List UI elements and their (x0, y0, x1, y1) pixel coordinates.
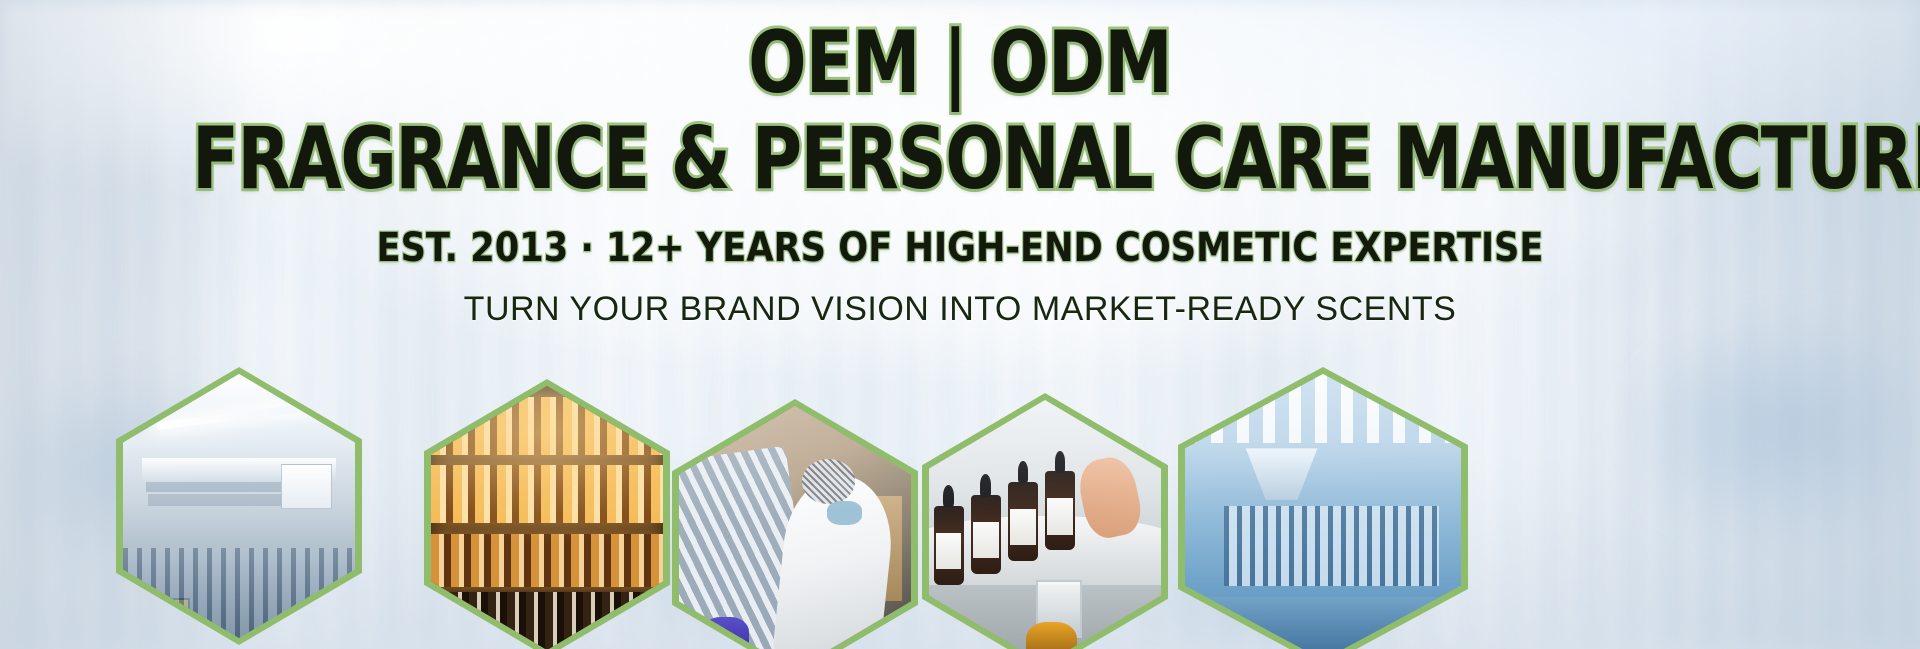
hexagon-photo-clip (123, 374, 355, 638)
control-panel-detail (281, 464, 332, 509)
hexagon-tile-ppe-operator-production-line[interactable] (672, 399, 918, 649)
hopper-tank-detail (1246, 448, 1318, 499)
photo-amber-bottle-shelves (431, 386, 663, 649)
photo-ppe-operator-production-line (679, 406, 911, 649)
filling-rig-detail (1224, 506, 1439, 586)
hexagon-photo-clip (929, 400, 1161, 649)
banner-copy: OEM | ODM FRAGRANCE & PERSONAL CARE MANU… (0, 0, 1920, 329)
photo-automatic-filling-machine (123, 374, 355, 638)
face-mask-detail (827, 501, 862, 525)
shelf-glow-overlay (431, 386, 663, 649)
lab-bottle-1 (934, 506, 964, 585)
hexagon-tile-lab-dosing-bottles[interactable] (922, 393, 1168, 649)
subheadline: EST. 2013 · 12+ YEARS OF HIGH-END COSMET… (115, 228, 1805, 268)
amber-flask-detail (1026, 622, 1077, 649)
hexagon-tile-amber-bottle-shelves[interactable] (424, 379, 670, 649)
hexagon-tile-blue-filling-equipment-hall[interactable] (1178, 367, 1468, 649)
headline-secondary: FRAGRANCE & PERSONAL CARE MANUFACTURER (192, 116, 1728, 202)
hexagon-photo-clip (431, 386, 663, 649)
factory-floor-detail (1185, 597, 1461, 649)
lab-bottle-4 (1045, 471, 1075, 550)
hexagon-photo-clip (679, 406, 911, 649)
lab-bottle-2 (971, 495, 1001, 574)
tagline: TURN YOUR BRAND VISION INTO MARKET-READY… (0, 290, 1920, 329)
lab-bottle-3 (1008, 482, 1038, 561)
ceiling-grid-detail (1185, 374, 1461, 443)
promo-banner: OEM | ODM FRAGRANCE & PERSONAL CARE MANU… (0, 0, 1920, 649)
photo-lab-dosing-bottles (929, 400, 1161, 649)
headline-primary: OEM | ODM (192, 20, 1728, 106)
hairnet-detail (802, 459, 855, 504)
photo-blue-filling-equipment-hall (1185, 374, 1461, 649)
hexagon-tile-automatic-filling-machine[interactable] (116, 367, 362, 645)
hexagon-photo-clip (1185, 374, 1461, 649)
